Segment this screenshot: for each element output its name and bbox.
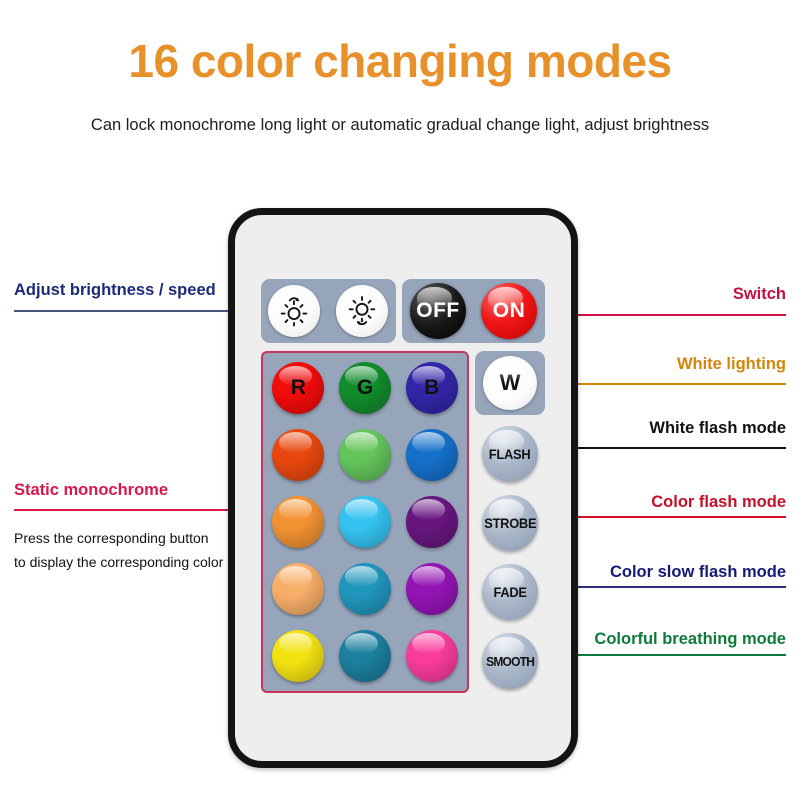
fade-mode-button[interactable]: FADE — [482, 564, 538, 620]
sun-up-icon — [277, 294, 311, 328]
page-title: 16 color changing modes — [0, 34, 800, 88]
static-monochrome-note-line-1: Press the corresponding button — [14, 530, 209, 546]
color-swatch-10[interactable] — [339, 563, 391, 615]
strobe-label: STROBE — [484, 515, 536, 531]
callout-label-switch: Switch — [733, 285, 786, 304]
color-swatch-label: R — [291, 376, 306, 400]
power-off-label: OFF — [416, 299, 460, 323]
fade-label: FADE — [493, 584, 526, 600]
callout-line-color-flash-mode — [566, 516, 786, 518]
flash-label: FLASH — [489, 446, 531, 462]
color-swatch-4[interactable] — [339, 429, 391, 481]
color-swatch-label: B — [424, 376, 439, 400]
brightness-down-button[interactable] — [336, 285, 388, 337]
color-swatch-14[interactable] — [406, 630, 458, 682]
white-button-label: W — [500, 370, 521, 396]
callout-label-white-flash-mode: White flash mode — [649, 419, 786, 438]
color-swatch-b[interactable]: B — [406, 362, 458, 414]
color-swatch-7[interactable] — [339, 496, 391, 548]
callout-label-color-flash-mode: Color flash mode — [651, 493, 786, 512]
remote-control: OFF ON RGB W FLASH STROBE FADE SMOOTH — [228, 208, 578, 768]
callout-label-static-monochrome: Static monochrome — [14, 481, 168, 500]
color-grid: RGB — [265, 355, 465, 689]
callout-line-white-flash-mode — [566, 447, 786, 449]
color-swatch-r[interactable]: R — [272, 362, 324, 414]
color-swatch-3[interactable] — [272, 429, 324, 481]
smooth-mode-button[interactable]: SMOOTH — [482, 633, 538, 689]
callout-label-white-lighting: White lighting — [677, 355, 786, 374]
color-swatch-6[interactable] — [272, 496, 324, 548]
callout-line-color-slow-flash-mode — [566, 586, 786, 588]
color-swatch-label: G — [357, 376, 373, 400]
power-on-button[interactable]: ON — [481, 283, 537, 339]
brightness-up-button[interactable] — [268, 285, 320, 337]
page-subtitle: Can lock monochrome long light or automa… — [0, 116, 800, 135]
callout-line-static-monochrome — [14, 509, 249, 511]
callout-label-color-slow-flash-mode: Color slow flash mode — [610, 563, 786, 582]
callout-label-adjust-brightness: Adjust brightness / speed — [14, 281, 216, 300]
color-swatch-12[interactable] — [272, 630, 324, 682]
callout-label-colorful-breathing-mode: Colorful breathing mode — [594, 630, 786, 649]
strobe-mode-button[interactable]: STROBE — [482, 495, 538, 551]
smooth-label: SMOOTH — [486, 654, 534, 669]
color-swatch-13[interactable] — [339, 630, 391, 682]
static-monochrome-note-line-2: to display the corresponding color — [14, 554, 223, 570]
color-swatch-g[interactable]: G — [339, 362, 391, 414]
sun-down-icon — [345, 294, 379, 328]
power-panel: OFF ON — [402, 279, 545, 343]
callout-line-adjust-brightness — [14, 310, 246, 312]
power-on-label: ON — [493, 299, 526, 323]
white-light-button[interactable]: W — [483, 356, 537, 410]
brightness-panel — [261, 279, 396, 343]
color-swatch-9[interactable] — [272, 563, 324, 615]
color-swatch-5[interactable] — [406, 429, 458, 481]
callout-line-switch — [566, 314, 786, 316]
callout-line-colorful-breathing-mode — [566, 654, 786, 656]
flash-mode-button[interactable]: FLASH — [482, 426, 538, 482]
callout-line-white-lighting — [566, 383, 786, 385]
color-swatch-11[interactable] — [406, 563, 458, 615]
color-swatch-8[interactable] — [406, 496, 458, 548]
power-off-button[interactable]: OFF — [410, 283, 466, 339]
